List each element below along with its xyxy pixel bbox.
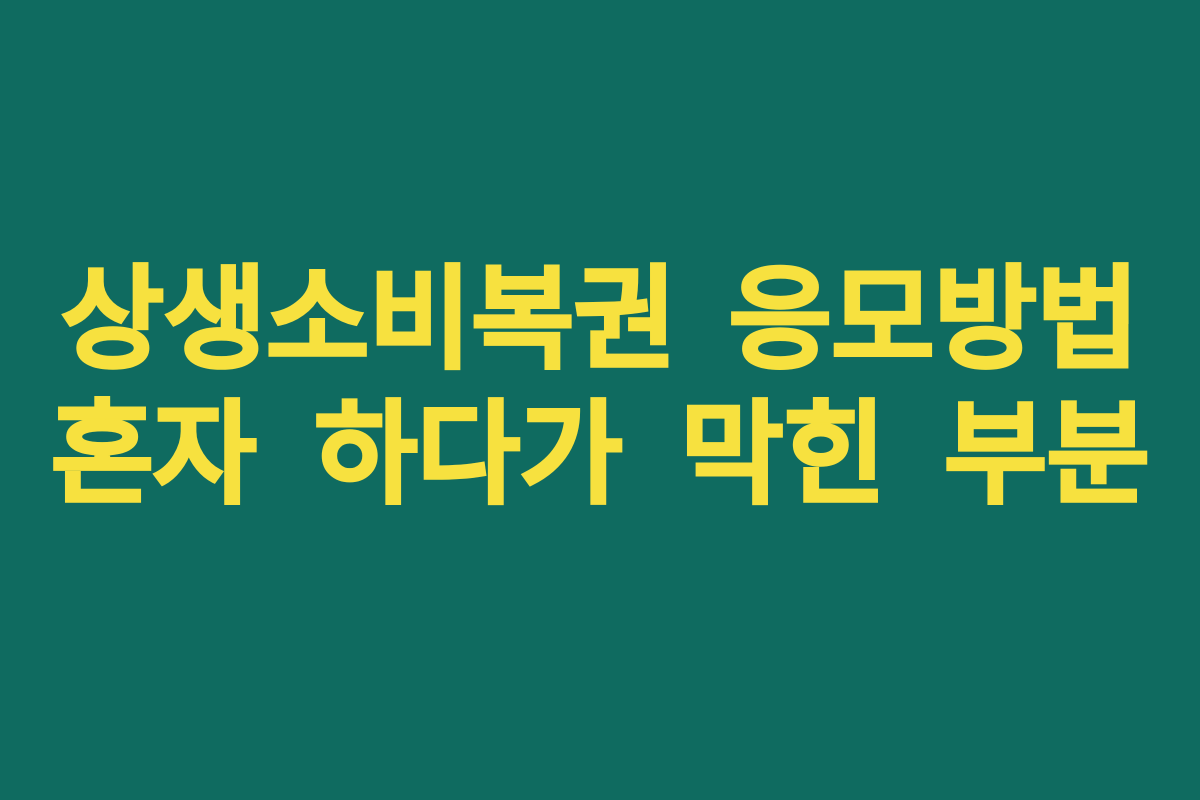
- headline-line-1: 상생소비복권 응모방법: [0, 253, 1200, 388]
- headline-line-2: 혼자 하다가 막힌 부분: [0, 388, 1200, 523]
- banner-canvas: 상생소비복권 응모방법 혼자 하다가 막힌 부분: [0, 0, 1200, 800]
- headline-block: 상생소비복권 응모방법 혼자 하다가 막힌 부분: [0, 253, 1200, 523]
